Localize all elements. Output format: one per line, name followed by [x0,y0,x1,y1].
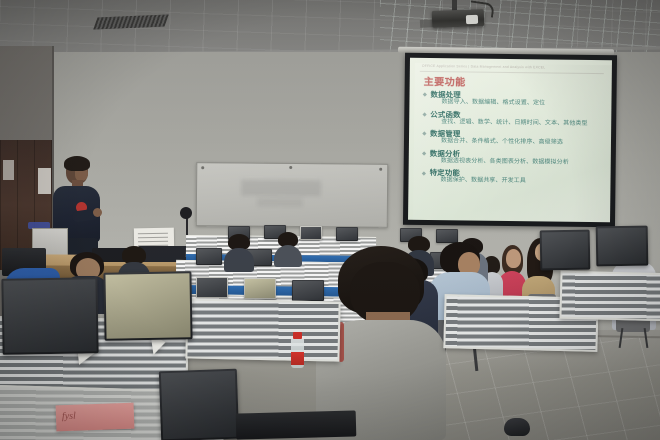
slide-block: 数据管理 数据合并、条件格式、个性化排序、高级筛选 [421,129,605,148]
partition-slats [561,273,660,320]
projection-screen: OFFICE Application Series | Data Managem… [403,53,617,228]
mouse [504,418,530,436]
monitor-screen [105,273,190,338]
partition-slats [187,300,338,359]
foreground-partition-far-right [559,271,660,322]
notice-paper-secondary [3,160,14,180]
monitor [336,227,358,241]
whiteboard-erased-marks-2 [257,198,303,207]
instructor-hair [64,156,90,171]
water-bottle-cap [293,332,302,339]
monitor-screen [542,232,589,269]
slide-block: 数据分析 数据透视表分析、各类图表分析、数据模拟分析 [421,149,605,168]
slide-title: 主要功能 [424,73,466,89]
whiteboard-corner-fixing [201,166,204,169]
monitor [196,248,222,265]
floor-tile-lines [430,336,660,440]
keyboard [236,410,357,439]
slide-block: 公式函数 查找、逻辑、数学、统计、日期时间、文本、其他类型 [421,109,605,128]
foreground-monitor-left [1,277,98,355]
foreground-partition-mid [185,298,340,361]
foreground-monitor-left-2 [103,271,192,341]
microphone-icon [180,207,192,219]
foreground-monitor-far-right [596,226,649,267]
foreground-monitor-bottom [159,369,239,440]
monitor-screen [3,279,96,353]
projector-lens-icon [466,15,478,24]
whiteboard-corner-fixing [379,168,382,171]
student-mid-b [274,232,304,266]
monitor-screen [598,228,647,265]
classroom-photo: OFFICE Application Series | Data Managem… [0,0,660,440]
student-mid-a [224,234,256,270]
water-bottle-label [291,352,304,365]
whiteboard [196,162,389,228]
foreground-monitor-right [540,230,591,271]
whiteboard-corner-fixing [289,166,292,169]
monitor [436,229,458,243]
monitor [244,278,276,299]
monitor-screen [161,371,237,440]
pink-label-text: fysl [62,411,76,422]
slide-block: 特定功能 数据保护、数据共享、开发工具 [420,168,604,187]
slide-block: 数据处理 数据导入、数据编辑、格式设置、定位 [421,90,605,109]
whiteboard-erased-marks [241,180,321,197]
pink-desk-label: fysl [56,403,135,432]
slide-surface: OFFICE Application Series | Data Managem… [408,58,612,222]
slide-bullet-list: 数据处理 数据导入、数据编辑、格式设置、定位 公式函数 查找、逻辑、数学、统计、… [420,90,605,190]
monitor [196,277,228,298]
instructor-hand [93,208,102,217]
